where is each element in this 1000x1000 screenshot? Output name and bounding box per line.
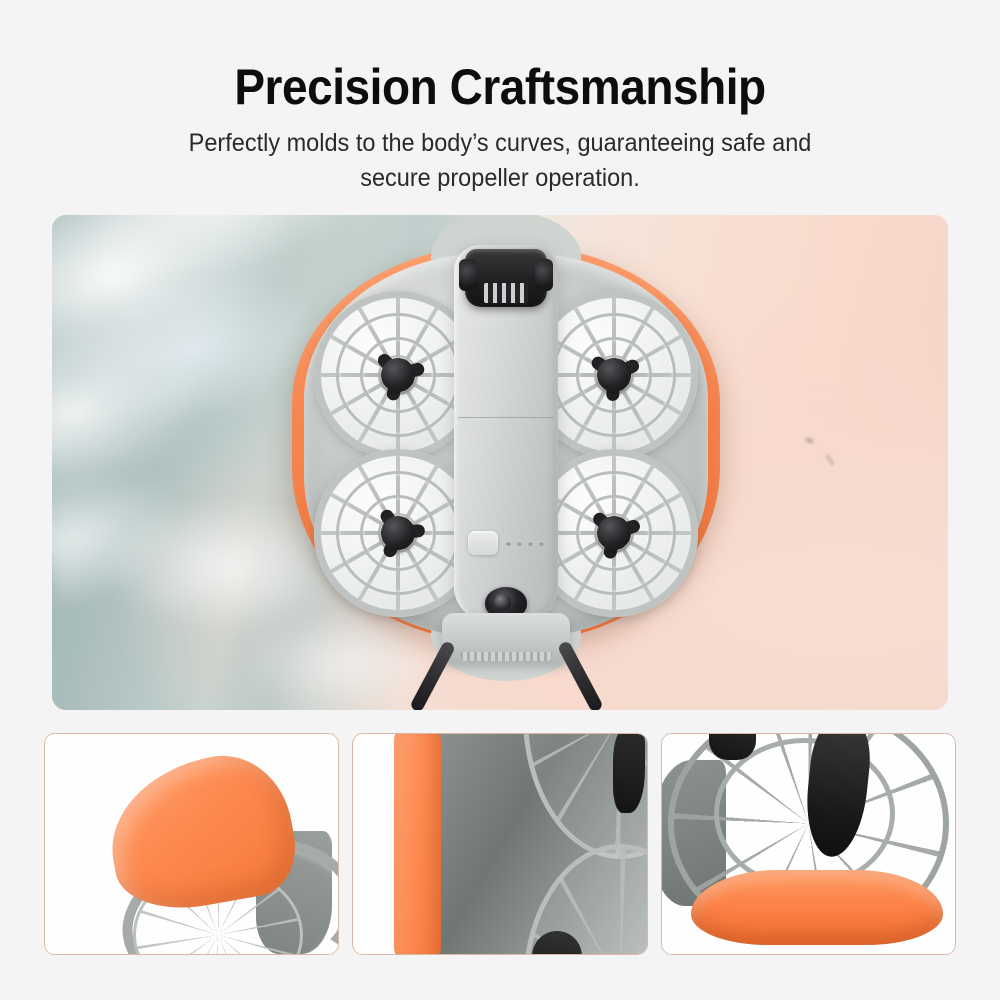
thumbnail-canvas <box>662 734 955 954</box>
guard-body <box>433 733 648 955</box>
subtitle-line-2: secure propeller operation. <box>30 161 970 196</box>
thumbnail-bumper-fin-detail[interactable] <box>44 733 339 955</box>
propeller-hub <box>597 516 631 550</box>
orange-bumper-rail <box>691 870 943 945</box>
propeller-hub <box>597 358 631 392</box>
rear-skid-mount <box>442 613 570 663</box>
body-seam-line <box>458 417 554 418</box>
subtitle-line-1: Perfectly molds to the body’s curves, gu… <box>189 129 812 157</box>
page-subtitle: Perfectly molds to the body’s curves, gu… <box>30 112 970 195</box>
product-feature-page: Precision Craftsmanship Perfectly molds … <box>0 0 1000 1000</box>
skid-ridges <box>460 652 552 661</box>
gimbal-camera-module <box>465 249 547 307</box>
page-title: Precision Craftsmanship <box>40 0 960 112</box>
header: Precision Craftsmanship Perfectly molds … <box>0 0 1000 205</box>
battery-led <box>517 541 522 546</box>
detail-thumbnail-row <box>44 733 956 955</box>
orange-trim-rail <box>394 733 441 955</box>
thumbnail-guard-lattice-detail[interactable] <box>352 733 647 955</box>
drone-product <box>286 239 726 691</box>
propeller-hub <box>381 516 415 550</box>
hero-product-image <box>52 215 948 710</box>
battery-led <box>528 541 533 546</box>
power-button[interactable] <box>468 531 498 555</box>
thumbnail-canvas <box>353 734 646 954</box>
battery-led-indicator <box>506 541 544 546</box>
thumbnail-canvas <box>45 734 338 954</box>
drone-body <box>454 245 558 621</box>
thumbnail-guard-bumper-detail[interactable] <box>661 733 956 955</box>
battery-led <box>539 541 544 546</box>
gimbal-vent-slats <box>484 283 528 303</box>
gimbal-lens-left <box>459 259 477 291</box>
propeller-hub <box>381 358 415 392</box>
gimbal-lens-right <box>535 259 553 291</box>
battery-led <box>506 541 511 546</box>
